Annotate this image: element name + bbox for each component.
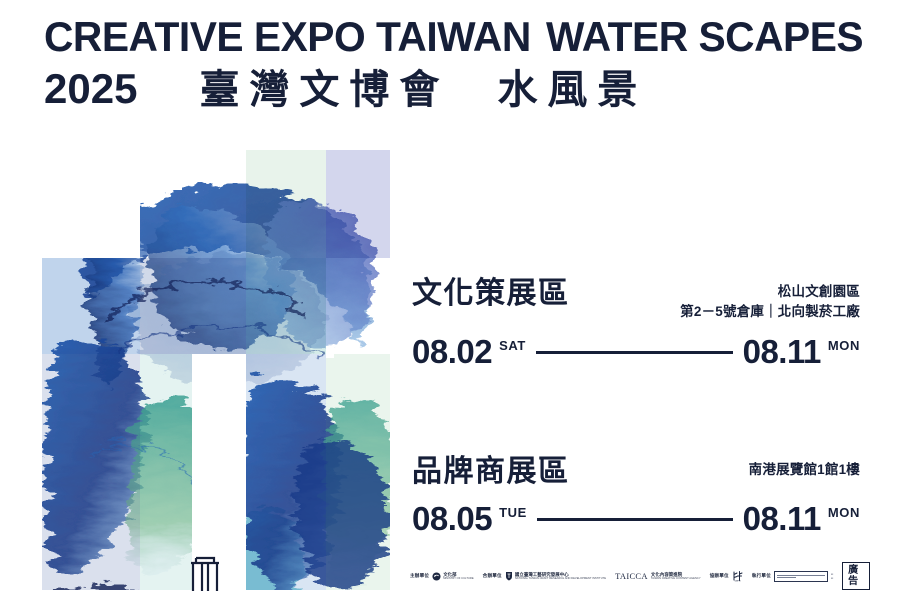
svg-text:TAIPEI: TAIPEI xyxy=(734,580,741,583)
sponsor-logo-text: 文化部 MINISTRY OF CULTURE xyxy=(443,572,473,581)
artwork-painting xyxy=(42,150,390,590)
sponsor-taicca: TAICCA 文化內容策進院 TAIWAN CREATIVE CONTENT A… xyxy=(615,571,701,581)
exhibition-info-panel: 文化策展區 松山文創園區 第2－5號倉庫｜北向製菸工廠 08.02 SAT 08… xyxy=(412,278,860,535)
sponsor-logo-subtext: MINISTRY OF CULTURE xyxy=(443,577,473,580)
executor-logo-line xyxy=(777,577,796,578)
craft-institute-mark-icon xyxy=(505,571,513,581)
zone-date-range: 08.02 SAT 08.11 MON xyxy=(412,335,860,368)
zone-block-brand: 品牌商展區 南港展覽館1館1樓 08.05 TUE 08.11 MON xyxy=(412,456,860,535)
start-date: 08.02 xyxy=(412,335,492,368)
sponsor-coorganizer: 合辦單位 國立臺灣工藝研究發展中心 NATIONAL TAIWAN CRAFT … xyxy=(483,571,606,581)
executor-logo-icon xyxy=(774,571,828,582)
sponsor-role-label: 合辦單位 xyxy=(483,573,502,579)
craft-research-institute-logo-icon: 國立臺灣工藝研究發展中心 NATIONAL TAIWAN CRAFT RESEA… xyxy=(505,571,606,581)
zone-venue: 松山文創園區 第2－5號倉庫｜北向製菸工廠 xyxy=(680,278,860,321)
sponsor-executor: 執行單位 ▪▪▪▪ xyxy=(752,571,833,582)
title-english-primary: CREATIVE EXPO TAIWAN xyxy=(44,16,531,58)
taipei-mark-icon: TAIPEI xyxy=(732,570,743,582)
zone-name: 品牌商展區 xyxy=(412,456,570,488)
date-range-rule xyxy=(537,518,733,521)
event-year: 2025 xyxy=(44,68,137,110)
gate-logo-mark-icon xyxy=(188,555,222,593)
title-english-secondary: WATER SCAPES xyxy=(546,16,863,58)
ministry-of-culture-logo-icon: 文化部 MINISTRY OF CULTURE xyxy=(432,572,473,581)
zone-date-range: 08.05 TUE 08.11 MON xyxy=(412,502,860,535)
poster-root: CREATIVE EXPO TAIWAN WATER SCAPES 2025 臺… xyxy=(0,0,900,600)
start-date: 08.05 xyxy=(412,502,492,535)
venue-line-1: 松山文創園區 xyxy=(680,282,860,302)
venue-line-1: 南港展覽館1館1樓 xyxy=(749,460,860,480)
date-range-rule xyxy=(536,351,733,354)
sponsor-cosponsor: 協辦單位 TAIPEI xyxy=(710,570,743,582)
title-chinese-primary: 臺灣文博會 xyxy=(199,70,449,110)
ministry-seal-icon xyxy=(432,572,441,581)
zone-header: 文化策展區 松山文創園區 第2－5號倉庫｜北向製菸工廠 xyxy=(412,278,860,321)
executor-logo-caption: ▪▪▪▪ xyxy=(831,572,833,581)
sponsor-logo-text: 國立臺灣工藝研究發展中心 NATIONAL TAIWAN CRAFT RESEA… xyxy=(515,572,606,581)
zone-header: 品牌商展區 南港展覽館1館1樓 xyxy=(412,456,860,488)
artwork-canvas xyxy=(42,150,390,590)
end-day-of-week: MON xyxy=(828,338,860,353)
executor-logo-line xyxy=(777,575,825,576)
title-chinese-secondary: 水風景 xyxy=(497,70,647,110)
zone-name: 文化策展區 xyxy=(412,278,570,310)
title-english-line: CREATIVE EXPO TAIWAN WATER SCAPES xyxy=(44,16,864,58)
end-day-of-week: MON xyxy=(828,505,860,520)
venue-line-2: 第2－5號倉庫｜北向製菸工廠 xyxy=(680,302,860,322)
taicca-logo-subtext: TAIWAN CREATIVE CONTENT AGENCY xyxy=(651,577,701,580)
taipei-city-logo-icon: TAIPEI xyxy=(732,570,743,582)
end-date: 08.11 xyxy=(743,502,821,535)
start-day-of-week: SAT xyxy=(499,338,526,353)
sponsor-role-label: 協辦單位 xyxy=(710,573,729,579)
sponsor-footer: 主辦單位 文化部 MINISTRY OF CULTURE 合辦單位 xyxy=(410,563,870,589)
zone-venue: 南港展覽館1館1樓 xyxy=(749,456,860,480)
sponsor-logo-subtext: NATIONAL TAIWAN CRAFT RESEARCH AND DEVEL… xyxy=(515,577,606,580)
taicca-wordmark: TAICCA xyxy=(615,571,648,581)
poster-header: CREATIVE EXPO TAIWAN WATER SCAPES 2025 臺… xyxy=(44,16,864,110)
sponsor-role-label: 執行單位 xyxy=(752,573,771,579)
end-date: 08.11 xyxy=(743,335,821,368)
title-chinese-line: 2025 臺灣文博會 水風景 xyxy=(44,68,864,110)
sponsor-organizer: 主辦單位 文化部 MINISTRY OF CULTURE xyxy=(410,572,474,581)
sponsor-role-label: 主辦單位 xyxy=(410,573,429,579)
taicca-logo-text: 文化內容策進院 TAIWAN CREATIVE CONTENT AGENCY xyxy=(651,572,701,581)
advertisement-badge: 廣告 xyxy=(842,562,870,590)
start-day-of-week: TUE xyxy=(499,505,527,520)
zone-block-cultural: 文化策展區 松山文創園區 第2－5號倉庫｜北向製菸工廠 08.02 SAT 08… xyxy=(412,278,860,368)
key-visual-artwork xyxy=(42,150,390,590)
